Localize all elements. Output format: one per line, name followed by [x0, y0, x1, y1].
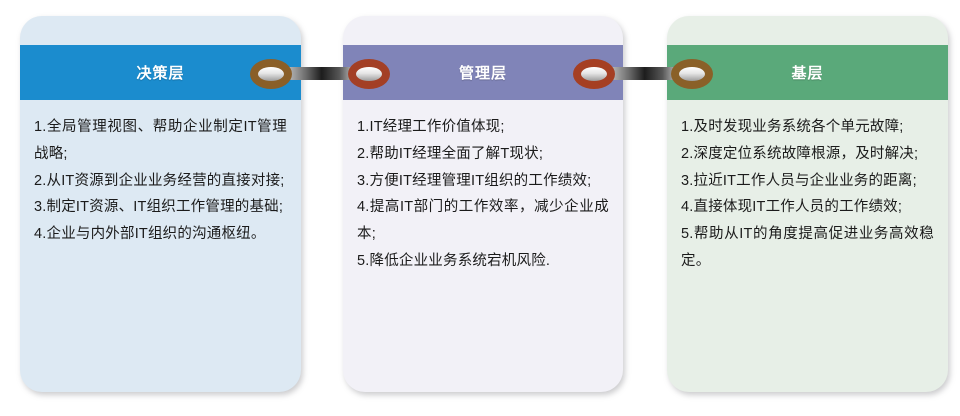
- list-item: 3.拉近IT工作人员与企业业务的距离;: [681, 168, 934, 195]
- card-decision-body: 1.全局管理视图、帮助企业制定IT管理战略; 2.从IT资源到企业业务经营的直接…: [20, 100, 301, 392]
- list-item: 3.方便IT经理管理IT组织的工作绩效;: [357, 168, 609, 195]
- list-item: 2.深度定位系统故障根源，及时解决;: [681, 141, 934, 168]
- chain-ring-right-inner: [356, 67, 382, 81]
- chain-ring-right-inner: [679, 67, 705, 81]
- chain-ring-left: [573, 59, 615, 89]
- list-item: 2.从IT资源到企业业务经营的直接对接;: [34, 168, 287, 195]
- card-management-title: 管理层: [459, 62, 507, 83]
- list-item: 1.及时发现业务系统各个单元故障;: [681, 114, 934, 141]
- list-item: 4.直接体现IT工作人员的工作绩效;: [681, 194, 934, 221]
- chain-link-icon: [250, 59, 390, 89]
- list-item: 5.降低企业业务系统宕机风险.: [357, 248, 609, 275]
- chain-ring-right: [671, 59, 713, 89]
- diagram-canvas: 决策层 1.全局管理视图、帮助企业制定IT管理战略; 2.从IT资源到企业业务经…: [0, 0, 960, 416]
- list-item: 4.企业与内外部IT组织的沟通枢纽。: [34, 221, 287, 248]
- chain-ring-right: [348, 59, 390, 89]
- card-management-body: 1.IT经理工作价值体现; 2.帮助IT经理全面了解T现状; 3.方便IT经理管…: [343, 100, 623, 392]
- list-item: 1.全局管理视图、帮助企业制定IT管理战略;: [34, 114, 287, 168]
- chain-ring-left-inner: [258, 67, 284, 81]
- chain-ring-left: [250, 59, 292, 89]
- card-base-body: 1.及时发现业务系统各个单元故障; 2.深度定位系统故障根源，及时解决; 3.拉…: [667, 100, 948, 392]
- list-item: 5.帮助从IT的角度提高促进业务高效稳定。: [681, 221, 934, 275]
- chain-ring-left-inner: [581, 67, 607, 81]
- list-item: 1.IT经理工作价值体现;: [357, 114, 609, 141]
- list-item: 2.帮助IT经理全面了解T现状;: [357, 141, 609, 168]
- list-item: 3.制定IT资源、IT组织工作管理的基础;: [34, 194, 287, 221]
- card-decision-title: 决策层: [136, 62, 184, 83]
- chain-link-icon: [573, 59, 713, 89]
- list-item: 4.提高IT部门的工作效率，减少企业成本;: [357, 194, 609, 248]
- card-base-title: 基层: [791, 62, 823, 83]
